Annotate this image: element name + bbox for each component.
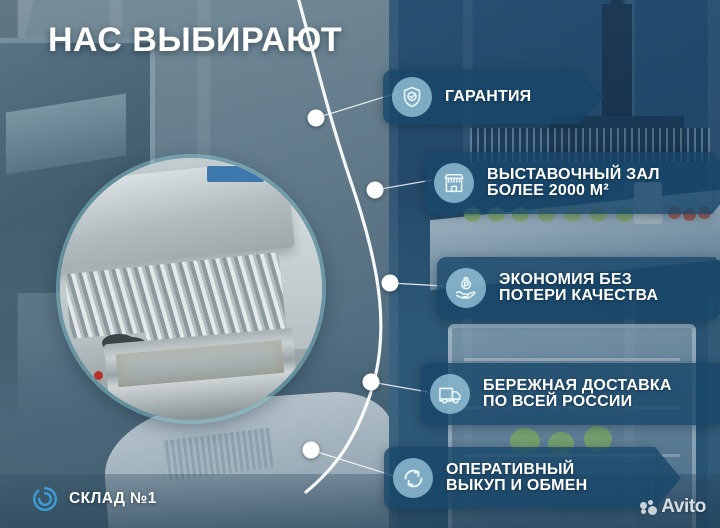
arc-node-3 (382, 275, 399, 292)
sklad-swirl-icon (30, 484, 60, 514)
feature-label-tradein: ОПЕРАТИВНЫЙ ВЫКУП И ОБМЕН (446, 462, 587, 495)
shield-check-icon (392, 77, 432, 117)
arc-node-2 (367, 182, 384, 199)
promo-poster: НАС ВЫБИРАЮТ (0, 0, 720, 528)
feature-banner-tradein[interactable]: ОПЕРАТИВНЫЙ ВЫКУП И ОБМЕН (384, 447, 655, 509)
page-title: НАС ВЫБИРАЮТ (48, 21, 342, 60)
arc-node-5 (303, 442, 320, 459)
photo-kitchen (60, 158, 322, 420)
hand-ruble-icon (446, 268, 486, 308)
feature-label-guarantee: ГАРАНТИЯ (445, 89, 531, 105)
feature-label-savings: ЭКОНОМИЯ БЕЗ ПОТЕРИ КАЧЕСТВА (499, 272, 658, 305)
delivery-truck-icon (430, 374, 470, 414)
showroom-icon (434, 163, 474, 203)
avito-dots-icon (640, 500, 657, 515)
photo-griddle (104, 328, 299, 420)
avito-watermark: Avito (640, 496, 706, 518)
brand-logo[interactable]: СКЛАД №1 (30, 484, 157, 514)
arc-node-4 (363, 374, 380, 391)
arc-node-1 (308, 110, 325, 127)
feature-banner-savings[interactable]: ЭКОНОМИЯ БЕЗ ПОТЕРИ КАЧЕСТВА (437, 257, 715, 319)
logo-text: СКЛАД №1 (69, 490, 157, 508)
feature-label-delivery: БЕРЕЖНАЯ ДОСТАВКА ПО ВСЕЙ РОССИИ (483, 378, 672, 411)
exchange-arrows-icon (393, 458, 433, 498)
feature-banner-guarantee[interactable]: ГАРАНТИЯ (383, 70, 578, 124)
feature-banner-delivery[interactable]: БЕРЕЖНАЯ ДОСТАВКА ПО ВСЕЙ РОССИИ (421, 363, 718, 425)
feature-banner-showroom[interactable]: ВЫСТАВОЧНЫЙ ЗАЛ БОЛЕЕ 2000 М² (425, 152, 712, 214)
kitchen-photo-circle (60, 158, 322, 420)
photo-hood-label (207, 166, 265, 182)
feature-label-showroom: ВЫСТАВОЧНЫЙ ЗАЛ БОЛЕЕ 2000 М² (487, 167, 660, 200)
avito-wordmark: Avito (661, 496, 706, 518)
